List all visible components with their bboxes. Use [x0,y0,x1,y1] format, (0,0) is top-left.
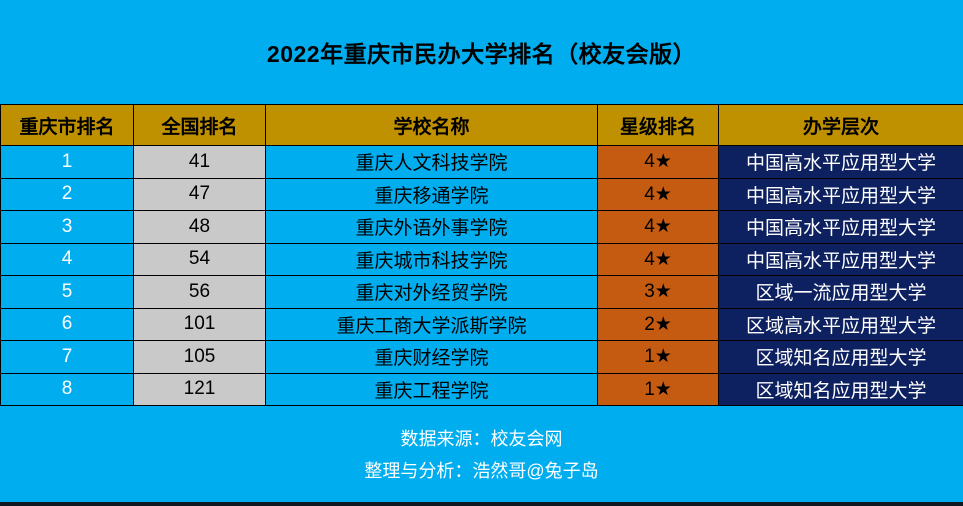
cell-local-rank: 3 [1,211,134,244]
cell-national-rank: 47 [134,178,266,211]
cell-school-name: 重庆工程学院 [266,373,598,406]
cell-local-rank: 4 [1,243,134,276]
cell-level: 区域知名应用型大学 [719,341,963,374]
bottom-strip [0,502,963,506]
cell-star-rank: 2★ [598,308,719,341]
table-row: 556重庆对外经贸学院3★区域一流应用型大学 [1,276,963,309]
page-title: 2022年重庆市民办大学排名（校友会版） [267,35,696,69]
cell-local-rank: 5 [1,276,134,309]
cell-national-rank: 121 [134,373,266,406]
cell-school-name: 重庆人文科技学院 [266,146,598,179]
cell-level: 中国高水平应用型大学 [719,211,963,244]
cell-national-rank: 48 [134,211,266,244]
footer-source: 数据来源：校友会网 [401,423,563,455]
table-row: 247重庆移通学院4★中国高水平应用型大学 [1,178,963,211]
table-row: 8121重庆工程学院1★区域知名应用型大学 [1,373,963,406]
cell-star-rank: 4★ [598,243,719,276]
cell-star-rank: 3★ [598,276,719,309]
cell-school-name: 重庆移通学院 [266,178,598,211]
cell-level: 区域知名应用型大学 [719,373,963,406]
header-row: 重庆市排名 全国排名 学校名称 星级排名 办学层次 [1,105,963,146]
title-bar: 2022年重庆市民办大学排名（校友会版） [0,0,963,103]
ranking-infographic: 2022年重庆市民办大学排名（校友会版） 重庆市排名 全国排名 学校名称 星级排… [0,0,963,506]
cell-national-rank: 54 [134,243,266,276]
table-row: 7105重庆财经学院1★区域知名应用型大学 [1,341,963,374]
university-ranking-table: 重庆市排名 全国排名 学校名称 星级排名 办学层次 141重庆人文科技学院4★中… [0,104,963,406]
cell-school-name: 重庆财经学院 [266,341,598,374]
cell-level: 区域一流应用型大学 [719,276,963,309]
cell-local-rank: 2 [1,178,134,211]
table-row: 348重庆外语外事学院4★中国高水平应用型大学 [1,211,963,244]
cell-school-name: 重庆外语外事学院 [266,211,598,244]
column-header-level: 办学层次 [719,105,963,146]
cell-star-rank: 1★ [598,341,719,374]
cell-national-rank: 105 [134,341,266,374]
cell-national-rank: 56 [134,276,266,309]
cell-level: 中国高水平应用型大学 [719,178,963,211]
cell-school-name: 重庆对外经贸学院 [266,276,598,309]
cell-star-rank: 4★ [598,146,719,179]
column-header-school-name: 学校名称 [266,105,598,146]
cell-local-rank: 7 [1,341,134,374]
cell-school-name: 重庆工商大学派斯学院 [266,308,598,341]
cell-national-rank: 101 [134,308,266,341]
column-header-local-rank: 重庆市排名 [1,105,134,146]
table-row: 454重庆城市科技学院4★中国高水平应用型大学 [1,243,963,276]
cell-star-rank: 4★ [598,178,719,211]
footer: 数据来源：校友会网 整理与分析：浩然哥@兔子岛 [0,408,963,502]
cell-level: 区域高水平应用型大学 [719,308,963,341]
table-row: 6101重庆工商大学派斯学院2★区域高水平应用型大学 [1,308,963,341]
cell-local-rank: 6 [1,308,134,341]
cell-star-rank: 4★ [598,211,719,244]
cell-level: 中国高水平应用型大学 [719,243,963,276]
cell-local-rank: 1 [1,146,134,179]
column-header-national-rank: 全国排名 [134,105,266,146]
cell-local-rank: 8 [1,373,134,406]
table-body: 141重庆人文科技学院4★中国高水平应用型大学247重庆移通学院4★中国高水平应… [1,146,963,406]
column-header-star-rank: 星级排名 [598,105,719,146]
table-header: 重庆市排名 全国排名 学校名称 星级排名 办学层次 [1,105,963,146]
cell-level: 中国高水平应用型大学 [719,146,963,179]
cell-star-rank: 1★ [598,373,719,406]
table-row: 141重庆人文科技学院4★中国高水平应用型大学 [1,146,963,179]
footer-credit: 整理与分析：浩然哥@兔子岛 [364,455,598,487]
cell-school-name: 重庆城市科技学院 [266,243,598,276]
cell-national-rank: 41 [134,146,266,179]
